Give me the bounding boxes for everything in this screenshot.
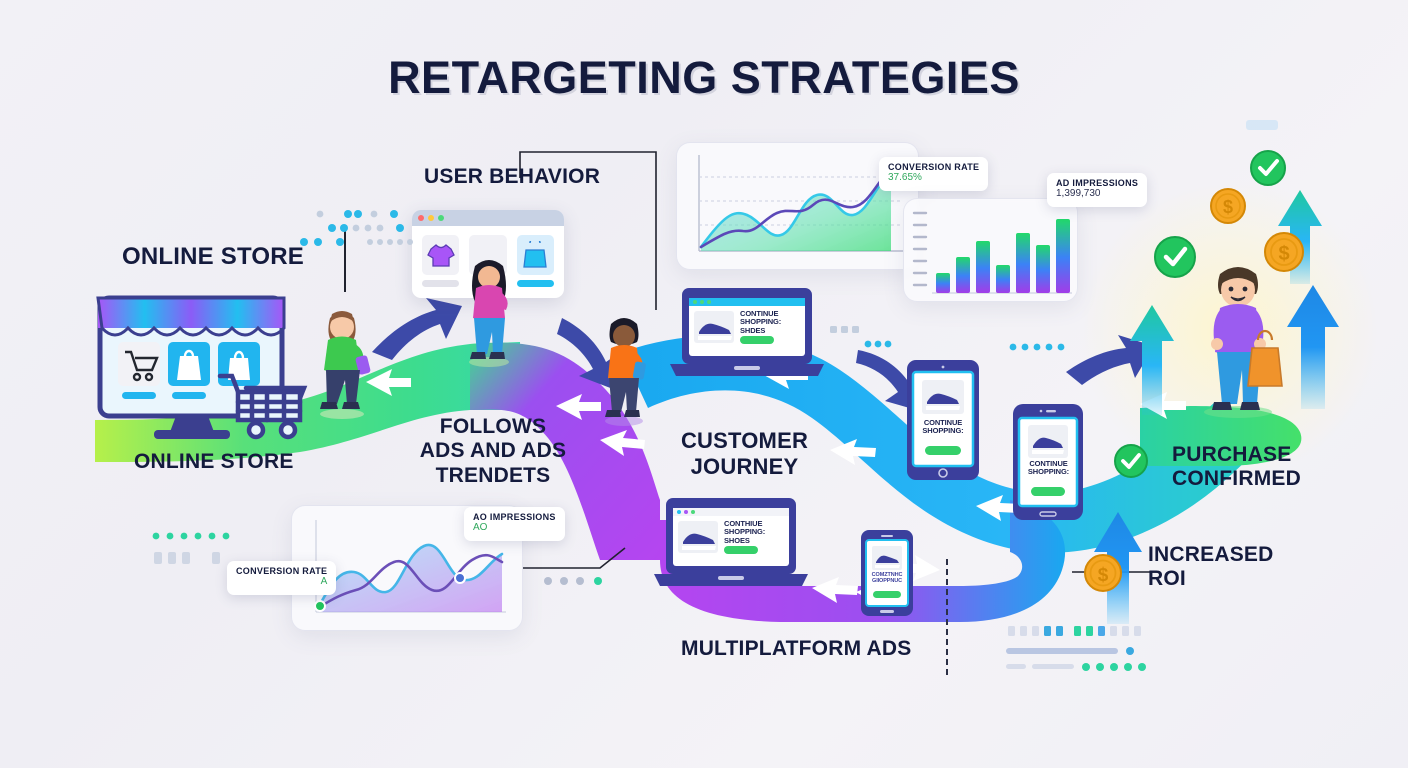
tooltip-conversion-rate-top: CONVERSION RATE 37.65% [879, 157, 988, 191]
decor-dots-mid-bottom [540, 568, 620, 594]
retargeted-man-illustration [594, 310, 654, 426]
tooltip-ad-impressions-top: AD IMPRESSIONS 1,399,730 [1047, 173, 1147, 207]
decor-dots-bottom-right [1002, 622, 1152, 678]
chart-datapoint-conversion[interactable] [315, 601, 325, 611]
phone-small-cta-text: COMZTNHC GIIOPPNUC [869, 572, 905, 584]
tooltip-value: 37.65% [888, 172, 979, 185]
browser-cta-button[interactable] [517, 280, 554, 287]
coin-icon-2: $ [1262, 230, 1306, 274]
tablet-lower-cta-text: CONTINUE SHOPPING: [1026, 460, 1071, 477]
chart-y-axis-ticks [914, 213, 926, 285]
label-online-store-top: ONLINE STORE [122, 243, 304, 271]
label-increased-roi: INCREASED ROI [1148, 543, 1273, 592]
bar-chart-svg [904, 199, 1079, 303]
placeholder-bar [422, 280, 459, 287]
decor-bar-top-right [1244, 116, 1284, 136]
chart-bars [936, 219, 1070, 293]
check-badge-icon-2 [1152, 234, 1198, 280]
tooltip-value: AO [473, 522, 556, 535]
svg-text:$: $ [1278, 243, 1289, 265]
decor-dots-center [828, 322, 898, 362]
label-online-store-bottom: ONLINE STORE [134, 450, 294, 474]
coin-icon-3: $ [1082, 552, 1124, 594]
tablet-device-lower[interactable]: CONTINUE SHOPPING: [1010, 402, 1086, 522]
tshirt-icon [427, 242, 455, 268]
infographic-canvas: RETARGETING STRATEGIES ONLINE STORE ONLI… [0, 0, 1408, 768]
product-tile-shirt[interactable] [422, 235, 459, 275]
happy-customer-illustration [1190, 258, 1290, 418]
product-tile-bag[interactable] [517, 235, 554, 275]
label-user-behavior: USER BEHAVIOR [424, 165, 600, 189]
tooltip-title: AO IMPRESSIONS [473, 512, 556, 522]
label-follows-ads: FOLLOWS ADS AND ADS TRENDETS [418, 415, 568, 488]
coin-icon-1: $ [1208, 186, 1248, 226]
svg-text:$: $ [1098, 565, 1109, 586]
ad-impressions-bar-chart-card [903, 198, 1078, 302]
label-customer-journey: CUSTOMER JOURNEY [677, 428, 812, 479]
svg-text:$: $ [1223, 197, 1233, 217]
browsing-woman-illustration [458, 252, 520, 367]
browser-titlebar [412, 210, 564, 226]
decor-dots-top-left [296, 204, 426, 254]
laptop-top-cta-text: CONTINUE SHOPPING: SHDES [740, 310, 781, 335]
shopper-woman-illustration [308, 300, 374, 420]
laptop-device-bottom[interactable]: CONTHIUE SHOPPING: SHOES [652, 496, 810, 592]
laptop-bottom-cta-text: CONTHIUE SHOPPING: SHOES [724, 520, 765, 545]
check-badge-icon-1 [1248, 148, 1288, 188]
tooltip-ao-impressions-bottom: AO IMPRESSIONS AO [464, 507, 565, 541]
shopping-bag-icon [522, 241, 548, 269]
label-purchase-confirmed: PURCHASE CONFIRMED [1172, 443, 1301, 492]
maximize-icon[interactable] [438, 215, 444, 221]
minimize-icon[interactable] [428, 215, 434, 221]
label-multiplatform-ads: MULTIPLATFORM ADS [681, 637, 911, 661]
tablet-device-upper[interactable]: CONTINUE SHOPPING: [903, 358, 983, 482]
page-title: RETARGETING STRATEGIES [0, 52, 1408, 104]
decor-dots-right [1008, 336, 1068, 358]
decor-dashed-line [946, 559, 948, 675]
online-store-illustration [92, 280, 332, 440]
tooltip-title: CONVERSION RATE [888, 162, 979, 172]
tooltip-value: 1,399,730 [1056, 188, 1138, 201]
laptop-device-top[interactable]: CONTINUE SHOPPING: SHDES [668, 286, 826, 382]
tooltip-title: AD IMPRESSIONS [1056, 178, 1138, 188]
phone-device-small[interactable]: COMZTNHC GIIOPPNUC [858, 528, 916, 618]
tablet-upper-cta-text: CONTINUE SHOPPING: [920, 419, 966, 436]
decor-dots-bottom-left [150, 528, 280, 574]
chart-datapoint-impressions[interactable] [455, 573, 465, 583]
tooltip-value: A [236, 576, 327, 589]
check-badge-icon-3 [1112, 442, 1150, 480]
